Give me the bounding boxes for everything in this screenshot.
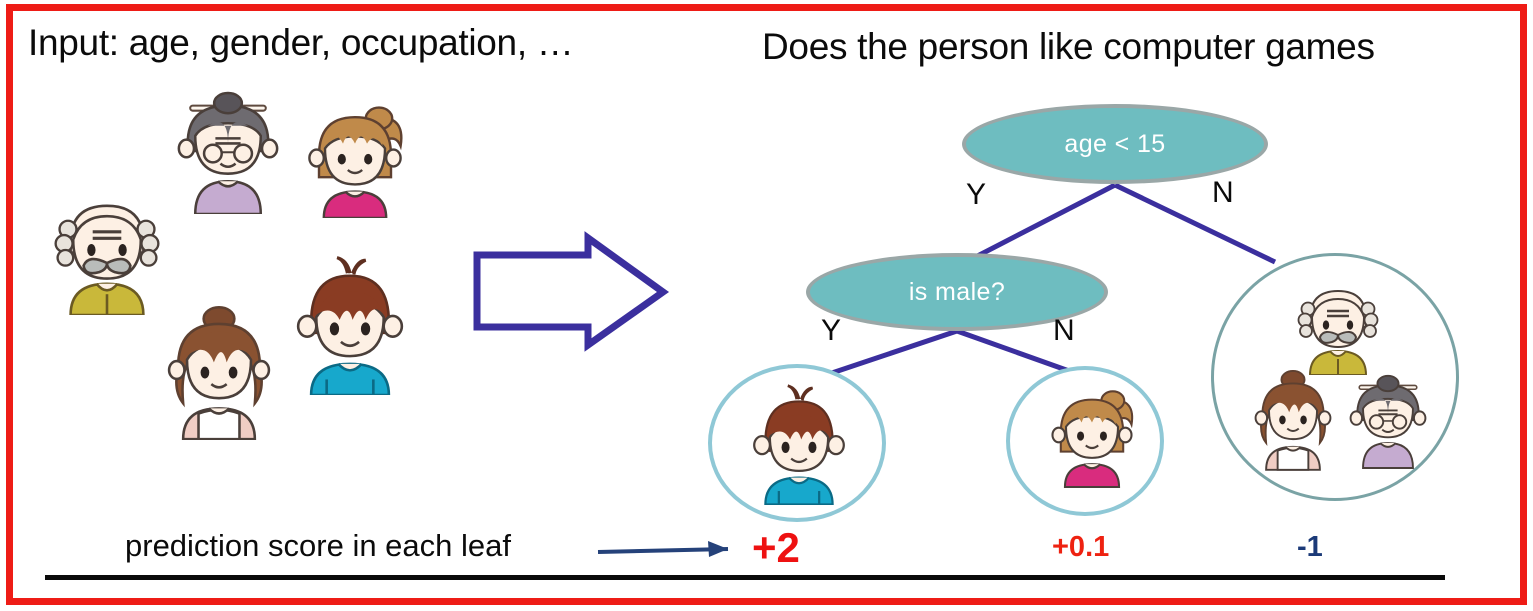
person-girl bbox=[295, 98, 415, 218]
leaf-score-others: -1 bbox=[1297, 531, 1323, 564]
prediction-score-caption: prediction score in each leaf bbox=[125, 528, 511, 564]
input-features-title: Input: age, gender, occupation, … bbox=[28, 22, 574, 64]
leaf-person-girl bbox=[1040, 380, 1144, 490]
edge-label-root-no: N bbox=[1212, 176, 1234, 210]
person-grandpa bbox=[42, 185, 172, 315]
prediction-question-title: Does the person like computer games bbox=[762, 26, 1375, 68]
leaf-score-girl: +0.1 bbox=[1052, 531, 1109, 564]
slide-root: Input: age, gender, occupation, … Does t… bbox=[0, 0, 1533, 611]
person-boy bbox=[285, 255, 415, 395]
edge-label-ismale-yes: Y bbox=[821, 314, 841, 348]
node-age-label: age < 15 bbox=[1064, 130, 1165, 159]
edge-label-ismale-no: N bbox=[1053, 314, 1075, 348]
leaf-score-boy: +2 bbox=[752, 524, 800, 572]
person-woman bbox=[155, 300, 283, 440]
bottom-rule bbox=[45, 575, 1445, 580]
node-age-lt-15[interactable]: age < 15 bbox=[962, 104, 1268, 184]
leaf-person-woman bbox=[1245, 365, 1341, 471]
edge-label-root-yes: Y bbox=[966, 178, 986, 212]
leaf-person-grandpa bbox=[1288, 275, 1388, 375]
leaf-person-grandma bbox=[1340, 370, 1436, 470]
leaf-person-boy bbox=[743, 383, 855, 505]
node-is-male-label: is male? bbox=[909, 278, 1005, 307]
person-grandma bbox=[165, 88, 291, 214]
